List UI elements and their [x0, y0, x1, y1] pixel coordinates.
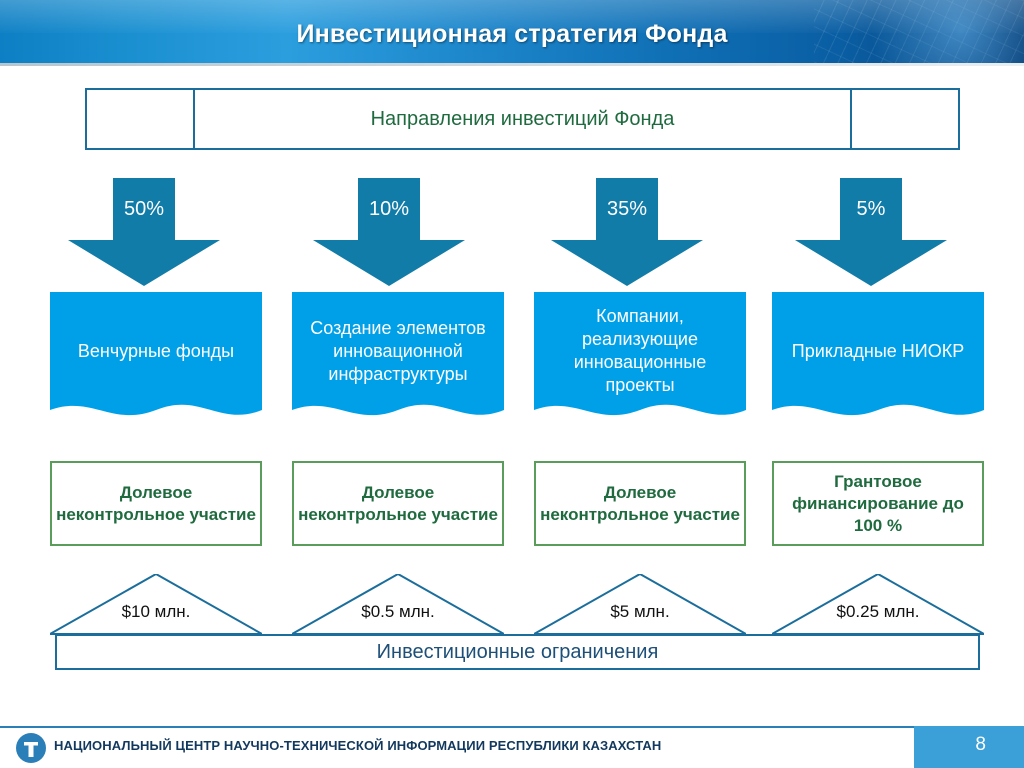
participation-label-column-3: Долевое неконтрольное участие: [540, 482, 740, 526]
direction-label-column-4: Прикладные НИОКР: [772, 292, 984, 410]
arrow-down-column-1: 50%: [68, 178, 220, 286]
footer-divider: [0, 726, 1024, 728]
arrow-label-column-2: 10%: [313, 198, 465, 221]
direction-label-column-3: Компании, реализующие инновационные прое…: [534, 292, 746, 410]
investment-limits-bar: Инвестиционные ограничения: [55, 634, 980, 670]
direction-box-column-1[interactable]: Венчурные фонды: [50, 292, 262, 427]
topbar-title: Направления инвестиций Фонда: [371, 108, 675, 131]
arrow-label-column-1: 50%: [68, 198, 220, 221]
direction-box-column-4[interactable]: Прикладные НИОКР: [772, 292, 984, 427]
direction-box-column-3[interactable]: Компании, реализующие инновационные прое…: [534, 292, 746, 427]
participation-box-column-3[interactable]: Долевое неконтрольное участие: [534, 461, 746, 546]
participation-label-column-1: Долевое неконтрольное участие: [56, 482, 256, 526]
limit-funnel-column-1: $10 млн.: [50, 574, 262, 636]
slide-number-badge: [914, 726, 1024, 768]
arrow-down-column-4: 5%: [795, 178, 947, 286]
topbar-center-cell: Направления инвестиций Фонда: [195, 88, 850, 150]
limit-funnel-column-2: $0.5 млн.: [292, 574, 504, 636]
investment-directions-bar: Направления инвестиций Фонда: [85, 88, 960, 150]
participation-box-column-1[interactable]: Долевое неконтрольное участие: [50, 461, 262, 546]
slide-number: 8: [975, 734, 986, 756]
limit-label-column-2: $0.5 млн.: [292, 602, 504, 622]
slide-footer: НАЦИОНАЛЬНЫЙ ЦЕНТР НАУЧНО-ТЕХНИЧЕСКОЙ ИН…: [0, 726, 1024, 768]
direction-box-column-2[interactable]: Создание элементов инновационной инфраст…: [292, 292, 504, 427]
direction-label-column-1: Венчурные фонды: [50, 292, 262, 410]
participation-box-column-2[interactable]: Долевое неконтрольное участие: [292, 461, 504, 546]
arrow-label-column-4: 5%: [795, 198, 947, 221]
organization-logo-icon: [14, 732, 48, 764]
header-underline: [0, 63, 1024, 66]
topbar-left-cell: [85, 88, 195, 150]
footer-organization: НАЦИОНАЛЬНЫЙ ЦЕНТР НАУЧНО-ТЕХНИЧЕСКОЙ ИН…: [54, 738, 661, 753]
slide-header: Инвестиционная стратегия Фонда: [0, 0, 1024, 66]
topbar-right-cell: [850, 88, 960, 150]
limit-funnel-column-3: $5 млн.: [534, 574, 746, 636]
arrow-label-column-3: 35%: [551, 198, 703, 221]
direction-label-column-2: Создание элементов инновационной инфраст…: [292, 292, 504, 410]
participation-label-column-4: Грантовое финансирование до 100 %: [778, 471, 978, 537]
participation-box-column-4[interactable]: Грантовое финансирование до 100 %: [772, 461, 984, 546]
limit-funnel-column-4: $0.25 млн.: [772, 574, 984, 636]
page-title: Инвестиционная стратегия Фонда: [0, 20, 1024, 49]
arrow-down-column-3: 35%: [551, 178, 703, 286]
limit-label-column-3: $5 млн.: [534, 602, 746, 622]
limit-label-column-4: $0.25 млн.: [772, 602, 984, 622]
arrow-down-column-2: 10%: [313, 178, 465, 286]
bottombar-title: Инвестиционные ограничения: [377, 641, 659, 664]
limit-label-column-1: $10 млн.: [50, 602, 262, 622]
participation-label-column-2: Долевое неконтрольное участие: [298, 482, 498, 526]
